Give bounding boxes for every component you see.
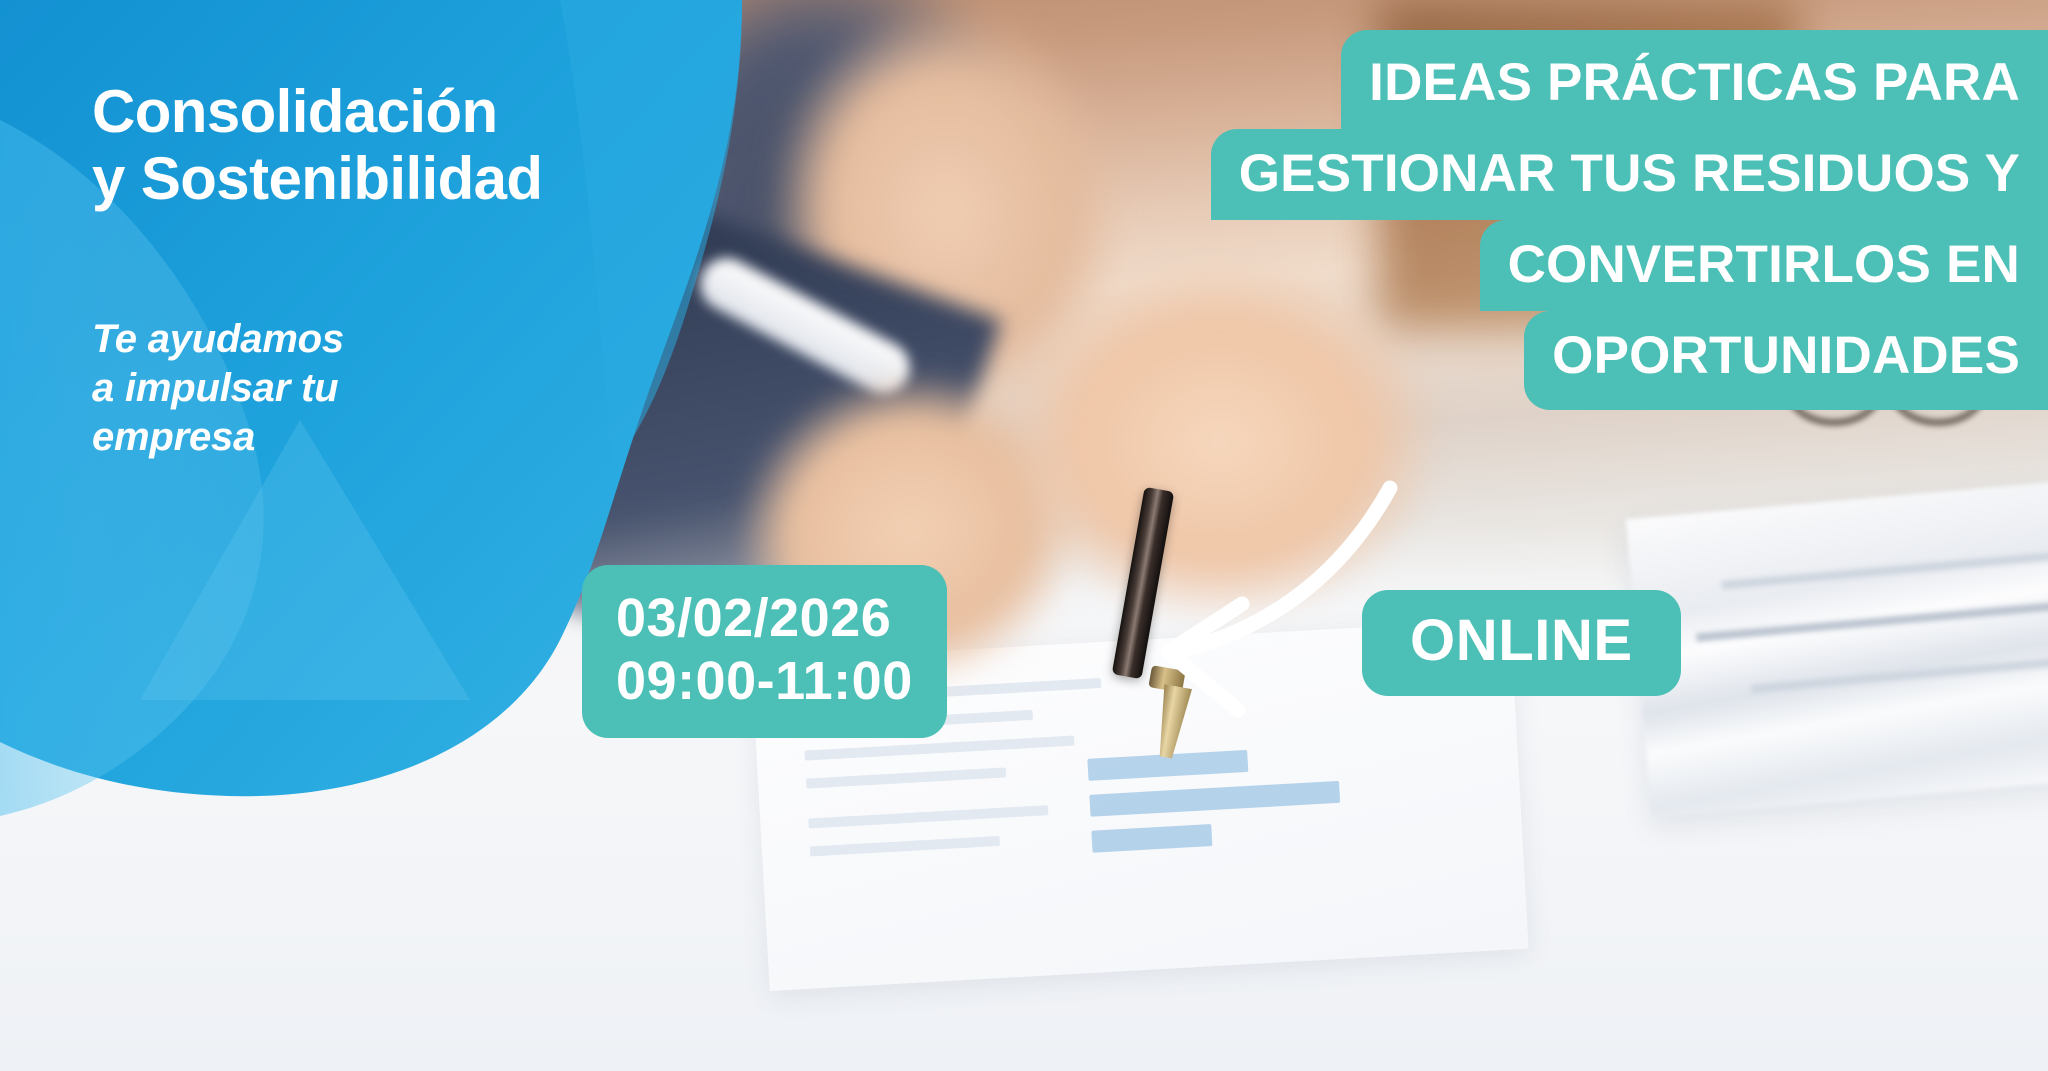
footer-logo-bar: ámara León ámaras Consejo de Castilla y …: [0, 861, 2048, 1071]
date-time-badge: 03/02/2026 09:00-11:00: [582, 565, 947, 738]
event-date: 03/02/2026: [616, 587, 913, 650]
stacked-books: [1626, 482, 2048, 818]
chart-bar: [1089, 781, 1340, 817]
event-title-line-3: CONVERTIRLOS EN: [1480, 220, 2048, 311]
event-title-line-4: OPORTUNIDADES: [1524, 311, 2048, 410]
subheadline-line-3: empresa: [92, 413, 512, 462]
subheadline-line-2: a impulsar tu: [92, 364, 512, 413]
subheadline: Te ayudamos a impulsar tu empresa: [92, 315, 512, 461]
online-badge: ONLINE: [1362, 590, 1681, 696]
event-title-block: IDEAS PRÁCTICAS PARA GESTIONAR TUS RESID…: [820, 30, 2048, 410]
promotional-banner: Consolidación y Sostenibilidad Te ayudam…: [0, 0, 2048, 1071]
event-title-line-2: GESTIONAR TUS RESIDUOS Y: [1211, 129, 2048, 220]
event-title-line-1: IDEAS PRÁCTICAS PARA: [1341, 30, 2048, 129]
headline-line-2: y Sostenibilidad: [92, 145, 732, 212]
chart-bar: [1091, 824, 1212, 853]
headline-line-1: Consolidación: [92, 78, 732, 145]
subheadline-line-1: Te ayudamos: [92, 315, 512, 364]
headline: Consolidación y Sostenibilidad: [92, 78, 732, 212]
event-time: 09:00-11:00: [616, 650, 913, 713]
